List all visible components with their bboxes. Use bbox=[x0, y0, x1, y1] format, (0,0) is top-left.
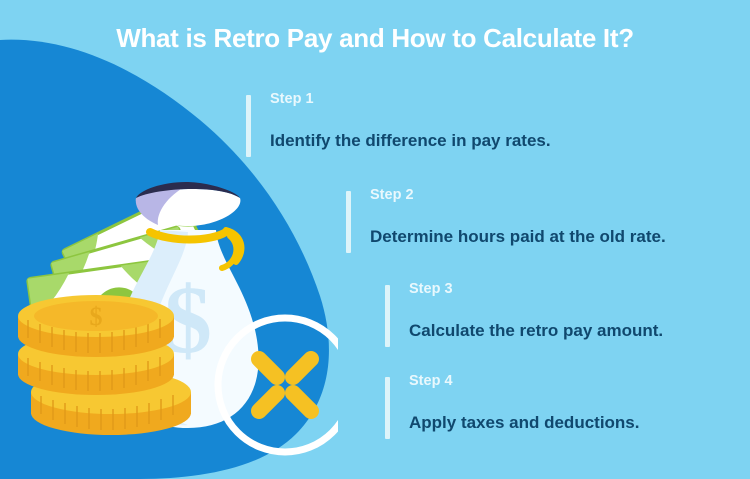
step-label: Step 3 bbox=[409, 282, 663, 297]
step-label: Step 2 bbox=[370, 188, 666, 203]
step-description: Apply taxes and deductions. bbox=[409, 413, 640, 433]
steps-list: Step 1 Identify the difference in pay ra… bbox=[0, 0, 750, 479]
step-accent-bar bbox=[346, 191, 351, 253]
step-item-3: Step 3 Calculate the retro pay amount. bbox=[385, 282, 663, 341]
step-accent-bar bbox=[385, 285, 390, 347]
step-description: Identify the difference in pay rates. bbox=[270, 131, 551, 151]
step-accent-bar bbox=[246, 95, 251, 157]
step-label: Step 1 bbox=[270, 92, 551, 107]
step-accent-bar bbox=[385, 377, 390, 439]
step-description: Determine hours paid at the old rate. bbox=[370, 227, 666, 247]
step-item-2: Step 2 Determine hours paid at the old r… bbox=[346, 188, 666, 247]
step-item-4: Step 4 Apply taxes and deductions. bbox=[385, 374, 640, 433]
step-label: Step 4 bbox=[409, 374, 640, 389]
step-item-1: Step 1 Identify the difference in pay ra… bbox=[246, 92, 551, 151]
step-description: Calculate the retro pay amount. bbox=[409, 321, 663, 341]
infographic-canvas: $ $ bbox=[0, 0, 750, 479]
